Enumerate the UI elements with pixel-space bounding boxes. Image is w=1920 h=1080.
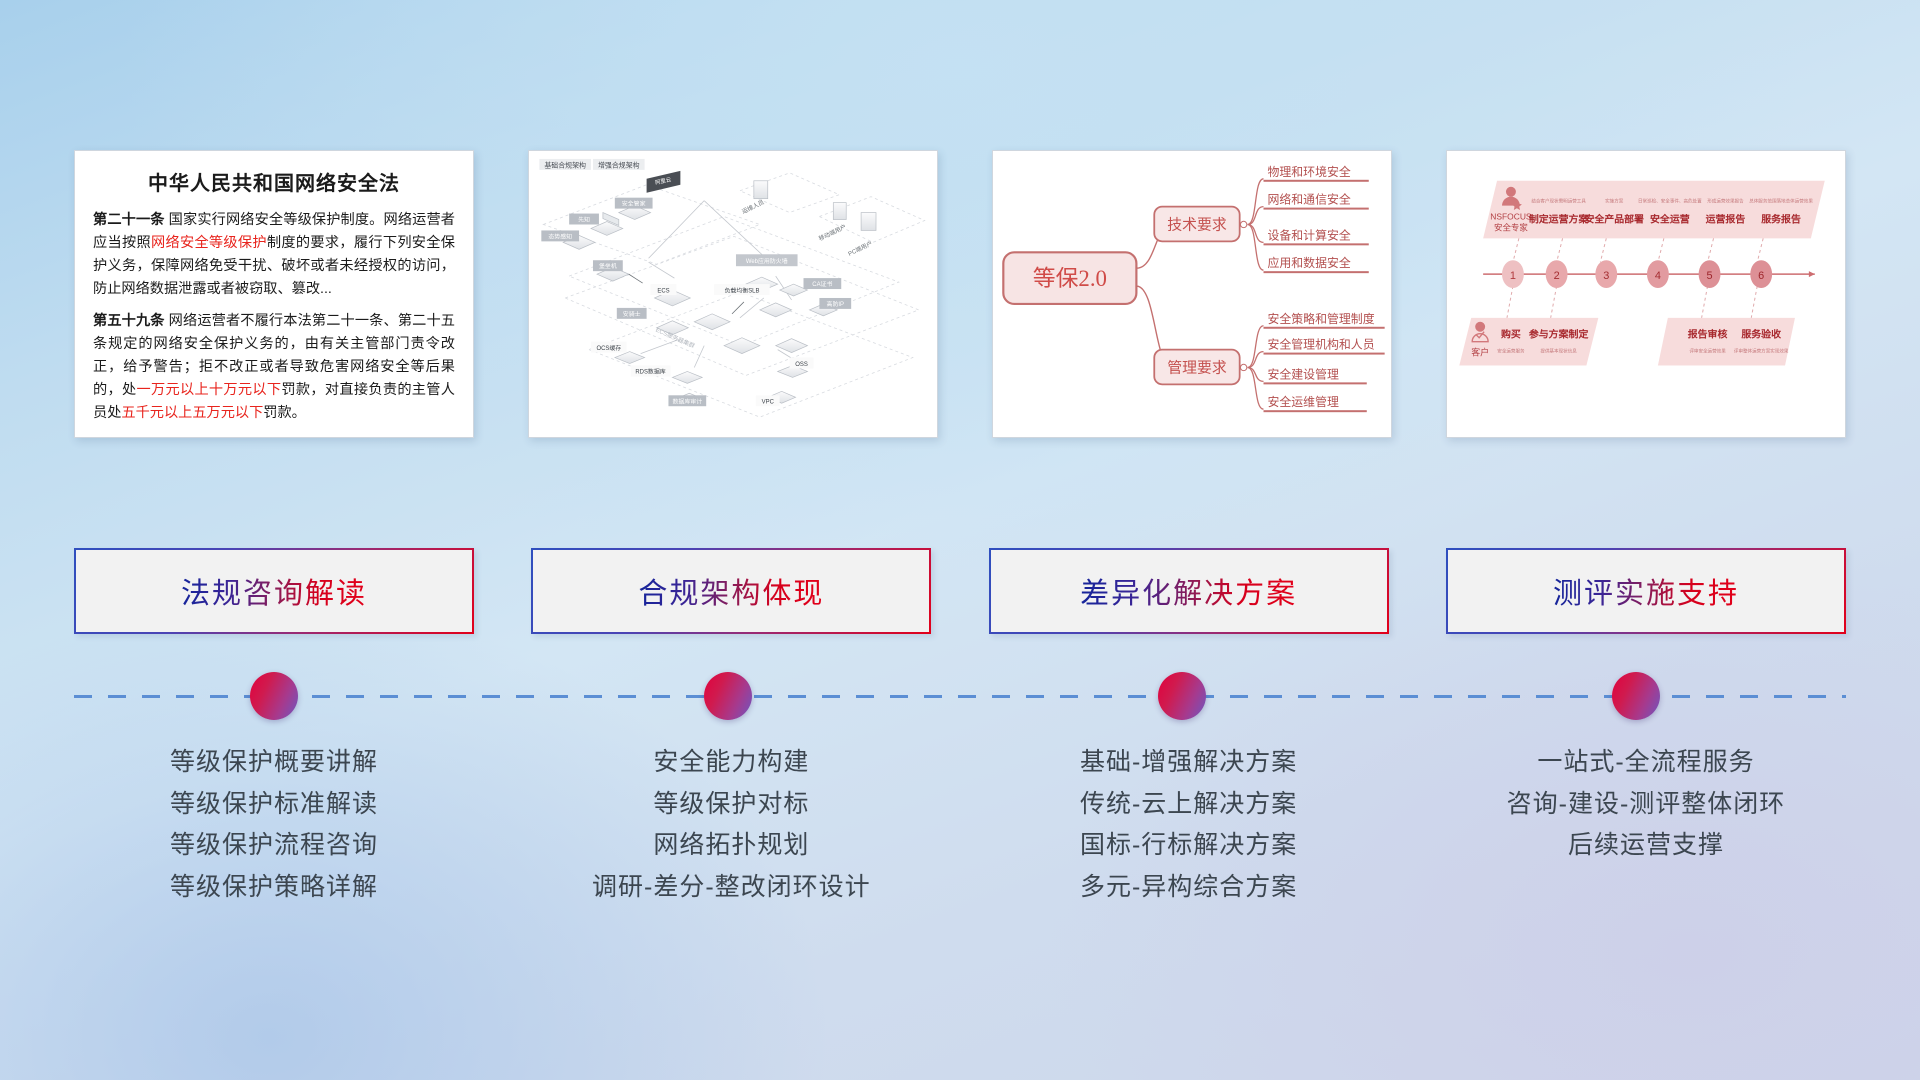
svg-text:数据库审计: 数据库审计 [672, 398, 702, 406]
bullet-item: 国标-行标解决方案 [989, 825, 1389, 867]
arch-node-slb: 负载均衡SLB [714, 284, 770, 295]
svg-text:VPC: VPC [762, 400, 775, 406]
svg-text:负载均衡SLB: 负载均衡SLB [724, 286, 759, 294]
arch-node-ca-cert: CA证书 [804, 278, 842, 289]
bullet-item: 传统-云上解决方案 [989, 784, 1389, 826]
timeline-node-3[interactable] [1158, 672, 1206, 720]
timeline-node-1[interactable] [250, 672, 298, 720]
timeline-node-4[interactable] [1612, 672, 1660, 720]
timeline-node-2[interactable] [704, 672, 752, 720]
svg-text:2: 2 [1554, 270, 1560, 282]
law-text-card: 中华人民共和国网络安全法 第二十一条 国家实行网络安全等级保护制度。网络运营者应… [74, 150, 474, 438]
bullet-item: 等级保护对标 [531, 784, 931, 826]
section-title-box-1[interactable]: 法规咨询解读 [74, 548, 474, 634]
svg-text:OSS: OSS [795, 362, 808, 368]
bullet-column-1: 等级保护概要讲解 等级保护标准解读 等级保护流程咨询 等级保护策略详解 [74, 742, 474, 908]
svg-text:安全管家: 安全管家 [622, 200, 646, 208]
law-article-21: 第二十一条 国家实行网络安全等级保护制度。网络运营者应当按照网络安全等级保护制度… [93, 209, 455, 301]
section-title-text: 测评实施支持 [1553, 570, 1739, 612]
svg-text:5: 5 [1707, 270, 1713, 282]
roadmap-top-title: 制定运营方案 [1529, 213, 1590, 226]
law-title: 中华人民共和国网络安全法 [93, 167, 455, 196]
section-title-box-4[interactable]: 测评实施支持 [1446, 548, 1846, 634]
mindmap-root: 等保2.0 [1003, 252, 1136, 304]
arch-tab-basic: 基础合规架构 [539, 159, 591, 170]
svg-text:1: 1 [1510, 270, 1516, 282]
bullet-item: 安全能力构建 [531, 742, 931, 784]
svg-text:管理要求: 管理要求 [1167, 359, 1227, 376]
roadmap-top-caption: 总体服务范围落地总体运营效果 [1749, 198, 1813, 205]
roadmap-top-title: 运营报告 [1706, 213, 1746, 226]
bullet-item: 等级保护流程咨询 [74, 825, 474, 867]
roadmap-bottom-caption: 评审整体运营方案实现效果 [1734, 348, 1789, 355]
section-title-text: 法规咨询解读 [181, 570, 367, 612]
roadmap-top-title: 安全运营 [1650, 213, 1690, 226]
arch-node-ocs-cache: OCS缓存 [591, 342, 627, 353]
svg-text:RDS数据库: RDS数据库 [635, 368, 665, 376]
section-title-box-2[interactable]: 合规架构体现 [531, 548, 931, 634]
svg-text:等保2.0: 等保2.0 [1033, 266, 1107, 291]
arch-node-vpc: VPC [756, 395, 780, 406]
svg-text:4: 4 [1655, 270, 1661, 282]
arch-node-xianzhi: 先知 [569, 214, 599, 225]
bullet-item: 等级保护策略详解 [74, 867, 474, 909]
roadmap-step: 3 [1595, 260, 1617, 288]
roadmap-top-actor-line2: 安全专家 [1494, 222, 1528, 232]
roadmap-bottom-caption: 提供基本现状信息 [1540, 348, 1577, 355]
bullet-column-3: 基础-增强解决方案 传统-云上解决方案 国标-行标解决方案 多元-异构综合方案 [989, 742, 1389, 908]
mindmap-branch-management: 管理要求 [1154, 350, 1247, 385]
roadmap-step: 1 [1502, 260, 1524, 288]
svg-text:CA证书: CA证书 [812, 280, 832, 288]
mindmap-leaf: 安全运维管理 [1267, 395, 1339, 409]
bullet-item: 网络拓扑规划 [531, 825, 931, 867]
section-title-text: 差异化解决方案 [1080, 570, 1297, 612]
law-body: 中华人民共和国网络安全法 第二十一条 国家实行网络安全等级保护制度。网络运营者应… [75, 151, 473, 438]
mindmap-leaf: 设备和计算安全 [1267, 228, 1350, 242]
article-59-label: 第五十九条 [93, 313, 165, 329]
arch-node-anti-ddos-ip: 高防IP [819, 298, 851, 309]
article-59-text-c: 罚款。 [263, 405, 306, 421]
svg-text:先知: 先知 [578, 216, 590, 224]
roadmap-top-caption: 日常巡检、安全事件、高危处置 [1638, 198, 1702, 205]
roadmap-step: 4 [1647, 260, 1669, 288]
roadmap-step: 5 [1699, 260, 1721, 288]
article-59-highlight-2: 五千元以上五万元以下 [121, 405, 263, 421]
roadmap-top-caption: 实施方案 [1605, 198, 1624, 205]
bullet-item: 一站式-全流程服务 [1446, 742, 1846, 784]
arch-node-db-audit: 数据库审计 [668, 395, 706, 406]
bullet-item: 后续运营支撑 [1446, 825, 1846, 867]
roadmap-top-actor-line1: NSFOCUS [1490, 212, 1532, 222]
svg-text:ECS: ECS [657, 289, 669, 295]
svg-text:安骑士: 安骑士 [623, 310, 641, 318]
bullet-column-row: 等级保护概要讲解 等级保护标准解读 等级保护流程咨询 等级保护策略详解 安全能力… [0, 742, 1920, 908]
arch-node-anqishi: 安骑士 [617, 308, 647, 319]
svg-text:技术要求: 技术要求 [1167, 216, 1227, 233]
roadmap-bottom-title: 购买 [1501, 328, 1521, 341]
bullet-item: 等级保护标准解读 [74, 784, 474, 826]
article-21-label: 第二十一条 [93, 212, 165, 228]
article-21-highlight: 网络安全等级保护 [151, 235, 267, 251]
media-card-row: 中华人民共和国网络安全法 第二十一条 国家实行网络安全等级保护制度。网络运营者应… [0, 150, 1920, 438]
arch-node-bastion-host: 堡垒机 [593, 260, 623, 271]
bullet-item: 基础-增强解决方案 [989, 742, 1389, 784]
arch-tab-enhanced: 增强合规架构 [593, 159, 645, 170]
section-title-row: 法规咨询解读 合规架构体现 差异化解决方案 测评实施支持 [0, 548, 1920, 634]
mindmap-leaf: 网络和通信安全 [1267, 193, 1350, 207]
mindmap-branch-technical: 技术要求 [1154, 207, 1247, 242]
roadmap-bottom-actor: 客户 [1471, 347, 1489, 358]
roadmap-bottom-caption: 安全运营服务 [1497, 348, 1525, 355]
mindmap-leaf: 安全建设管理 [1267, 367, 1339, 381]
arch-node-security-steward: 安全管家 [615, 198, 653, 209]
svg-text:6: 6 [1758, 270, 1764, 282]
mindmap-card: 等保2.0 技术要求 物理和环境安全 网络和通信安全 设备和计算安全 应用和数据… [992, 150, 1392, 438]
svg-text:高防IP: 高防IP [827, 300, 845, 308]
mindmap-leaf: 安全策略和管理制度 [1267, 312, 1374, 326]
roadmap-step: 6 [1750, 260, 1772, 288]
bullet-item: 多元-异构综合方案 [989, 867, 1389, 909]
section-title-text: 合规架构体现 [638, 570, 824, 612]
cloud-architecture-diagram: 基础合规架构 增强合规架构 阿里云 [529, 151, 937, 437]
bullet-item: 等级保护概要讲解 [74, 742, 474, 784]
roadmap-top-caption: 结合客户现状需明运营工具 [1531, 198, 1586, 205]
roadmap-bottom-title: 服务验收 [1741, 328, 1781, 341]
roadmap-top-title: 服务报告 [1761, 213, 1801, 226]
roadmap-bottom-title: 参与方案制定 [1529, 328, 1589, 341]
arch-node-waf: Web应用防火墙 [736, 254, 798, 266]
svg-text:OCS缓存: OCS缓存 [596, 344, 621, 352]
article-59-highlight-1: 一万元以上十万元以下 [136, 382, 281, 398]
arch-node-rds-db: RDS数据库 [631, 366, 671, 377]
law-article-59: 第五十九条 网络运营者不履行本法第二十一条、第二十五条规定的网络安全保护义务的，… [93, 310, 455, 425]
svg-text:态势感知: 态势感知 [548, 232, 572, 240]
bullet-column-4: 一站式-全流程服务 咨询-建设-测评整体闭环 后续运营支撑 [1446, 742, 1846, 908]
bullet-column-2: 安全能力构建 等级保护对标 网络拓扑规划 调研-差分-整改闭环设计 [531, 742, 931, 908]
mindmap-leaf: 安全管理机构和人员 [1267, 338, 1374, 352]
roadmap-bottom-caption: 评审安全运营效果 [1689, 348, 1726, 355]
svg-text:基础合规架构: 基础合规架构 [544, 160, 586, 169]
svg-text:3: 3 [1603, 270, 1609, 282]
roadmap-bottom-title: 报告审核 [1688, 328, 1728, 341]
timeline-node-row [0, 672, 1920, 720]
arch-node-situational-awareness: 态势感知 [541, 230, 579, 241]
mindmap-leaf: 应用和数据安全 [1267, 256, 1350, 270]
arch-node-oss: OSS [790, 358, 814, 369]
roadmap-step: 2 [1546, 260, 1568, 288]
service-roadmap-card: 1 2 3 4 5 6 NSFOCUS 安全专家 [1446, 150, 1846, 438]
roadmap-top-title: 安全产品部署 [1584, 213, 1644, 226]
svg-text:增强合规架构: 增强合规架构 [598, 160, 640, 169]
mindmap-leaf: 物理和环境安全 [1267, 165, 1350, 179]
bullet-item: 调研-差分-整改闭环设计 [531, 867, 931, 909]
arch-node-ecs: ECS [651, 284, 677, 295]
dengbao-mindmap: 等保2.0 技术要求 物理和环境安全 网络和通信安全 设备和计算安全 应用和数据… [993, 151, 1391, 437]
section-title-box-3[interactable]: 差异化解决方案 [989, 548, 1389, 634]
service-roadmap-diagram: 1 2 3 4 5 6 NSFOCUS 安全专家 [1447, 151, 1845, 437]
bullet-item: 咨询-建设-测评整体闭环 [1446, 784, 1846, 826]
cloud-architecture-card: 基础合规架构 增强合规架构 阿里云 [528, 150, 938, 438]
svg-text:Web应用防火墙: Web应用防火墙 [746, 257, 788, 265]
roadmap-top-caption: 形成运营效果报告 [1707, 198, 1744, 205]
svg-text:堡垒机: 堡垒机 [599, 262, 617, 270]
